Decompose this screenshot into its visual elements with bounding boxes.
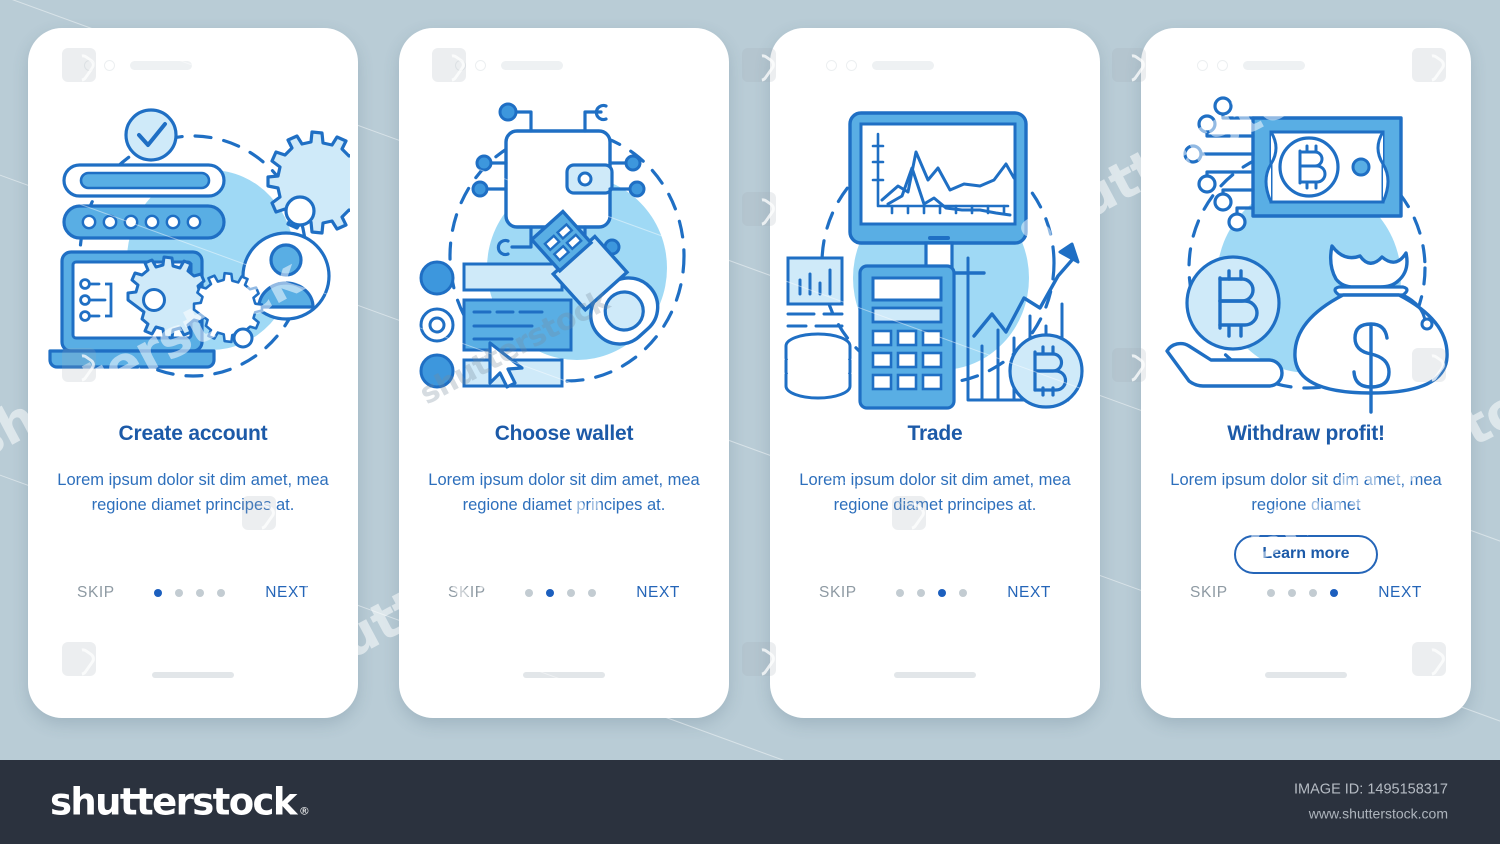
- home-indicator: [894, 672, 976, 678]
- screen-withdraw-profit: Withdraw profit! Lorem ipsum dolor sit d…: [1149, 36, 1463, 710]
- camera-icon: [84, 60, 95, 71]
- sensor-icon: [104, 60, 115, 71]
- onboarding-nav: SKIP NEXT: [407, 584, 721, 602]
- skip-button[interactable]: SKIP: [77, 584, 115, 602]
- pagination-dots[interactable]: [154, 589, 225, 597]
- pagination-dot[interactable]: [567, 589, 575, 597]
- pagination-dots[interactable]: [896, 589, 967, 597]
- pagination-dots[interactable]: [525, 589, 596, 597]
- camera-icon: [1197, 60, 1208, 71]
- illustration-trading-charts-calculator-icon: [778, 88, 1092, 418]
- next-button[interactable]: NEXT: [265, 584, 309, 602]
- pagination-dot[interactable]: [525, 589, 533, 597]
- content-block: Withdraw profit! Lorem ipsum dolor sit d…: [1149, 422, 1463, 574]
- image-id-value: 1495158317: [1367, 781, 1448, 797]
- pagination-dot[interactable]: [917, 589, 925, 597]
- page-description: Lorem ipsum dolor sit dim amet, mea regi…: [792, 468, 1078, 518]
- footer-meta: IMAGE ID: 1495158317 www.shutterstock.co…: [1294, 778, 1448, 825]
- pagination-dot[interactable]: [1309, 589, 1317, 597]
- content-block: Create account Lorem ipsum dolor sit dim…: [36, 422, 350, 518]
- pagination-dot[interactable]: [588, 589, 596, 597]
- phone-mockup-trade: Trade Lorem ipsum dolor sit dim amet, me…: [770, 28, 1100, 718]
- phone-status-bar: [84, 60, 192, 71]
- phone-status-bar: [826, 60, 934, 71]
- page-title: Create account: [50, 422, 336, 446]
- onboarding-nav: SKIP NEXT: [778, 584, 1092, 602]
- pagination-dot[interactable]: [896, 589, 904, 597]
- phone-mockup-withdraw-profit: Withdraw profit! Lorem ipsum dolor sit d…: [1141, 28, 1471, 718]
- page-title: Withdraw profit!: [1163, 422, 1449, 446]
- next-button[interactable]: NEXT: [636, 584, 680, 602]
- speaker-icon: [130, 61, 192, 70]
- illustration-account-setup-icon: [36, 88, 350, 418]
- image-id-row: IMAGE ID: 1495158317: [1294, 778, 1448, 802]
- pagination-dot[interactable]: [217, 589, 225, 597]
- next-button[interactable]: NEXT: [1007, 584, 1051, 602]
- footer-url: www.shutterstock.com: [1294, 802, 1448, 825]
- phone-status-bar: [1197, 60, 1305, 71]
- pagination-dot[interactable]: [938, 589, 946, 597]
- skip-button[interactable]: SKIP: [1190, 584, 1228, 602]
- skip-button[interactable]: SKIP: [819, 584, 857, 602]
- next-button[interactable]: NEXT: [1378, 584, 1422, 602]
- speaker-icon: [501, 61, 563, 70]
- skip-button[interactable]: SKIP: [448, 584, 486, 602]
- camera-icon: [455, 60, 466, 71]
- pagination-dot[interactable]: [1267, 589, 1275, 597]
- phone-status-bar: [455, 60, 563, 71]
- pagination-dot[interactable]: [196, 589, 204, 597]
- page-title: Choose wallet: [421, 422, 707, 446]
- illustration-digital-wallet-usb-icon: [407, 88, 721, 418]
- home-indicator: [1265, 672, 1347, 678]
- logo-registered-mark: ®: [299, 805, 308, 818]
- learn-more-button[interactable]: Learn more: [1234, 535, 1377, 574]
- phone-mockup-choose-wallet: Choose wallet Lorem ipsum dolor sit dim …: [399, 28, 729, 718]
- camera-icon: [826, 60, 837, 71]
- sensor-icon: [1217, 60, 1228, 71]
- page-description: Lorem ipsum dolor sit dim amet, mea regi…: [1163, 468, 1449, 518]
- pagination-dots[interactable]: [1267, 589, 1338, 597]
- onboarding-nav: SKIP NEXT: [36, 584, 350, 602]
- phone-mockup-create-account: Create account Lorem ipsum dolor sit dim…: [28, 28, 358, 718]
- speaker-icon: [1243, 61, 1305, 70]
- home-indicator: [523, 672, 605, 678]
- pagination-dot[interactable]: [1330, 589, 1338, 597]
- sensor-icon: [846, 60, 857, 71]
- sensor-icon: [475, 60, 486, 71]
- page-description: Lorem ipsum dolor sit dim amet, mea regi…: [50, 468, 336, 518]
- screen-choose-wallet: Choose wallet Lorem ipsum dolor sit dim …: [407, 36, 721, 710]
- content-block: Trade Lorem ipsum dolor sit dim amet, me…: [778, 422, 1092, 518]
- footer-bar: shutterstock ® IMAGE ID: 1495158317 www.…: [0, 760, 1500, 844]
- screen-create-account: Create account Lorem ipsum dolor sit dim…: [36, 36, 350, 710]
- image-id-label: IMAGE ID:: [1294, 781, 1363, 797]
- pagination-dot[interactable]: [1288, 589, 1296, 597]
- pagination-dot[interactable]: [154, 589, 162, 597]
- logo-text: shutterstock: [50, 781, 296, 824]
- home-indicator: [152, 672, 234, 678]
- pagination-dot[interactable]: [175, 589, 183, 597]
- speaker-icon: [872, 61, 934, 70]
- page-title: Trade: [792, 422, 1078, 446]
- page-description: Lorem ipsum dolor sit dim amet, mea regi…: [421, 468, 707, 518]
- pagination-dot[interactable]: [959, 589, 967, 597]
- onboarding-nav: SKIP NEXT: [1149, 584, 1463, 602]
- onboarding-stage: Create account Lorem ipsum dolor sit dim…: [0, 0, 1500, 760]
- pagination-dot[interactable]: [546, 589, 554, 597]
- shutterstock-logo: shutterstock ®: [50, 781, 308, 824]
- illustration-bitcoin-money-bag-icon: [1149, 88, 1463, 418]
- screen-trade: Trade Lorem ipsum dolor sit dim amet, me…: [778, 36, 1092, 710]
- content-block: Choose wallet Lorem ipsum dolor sit dim …: [407, 422, 721, 518]
